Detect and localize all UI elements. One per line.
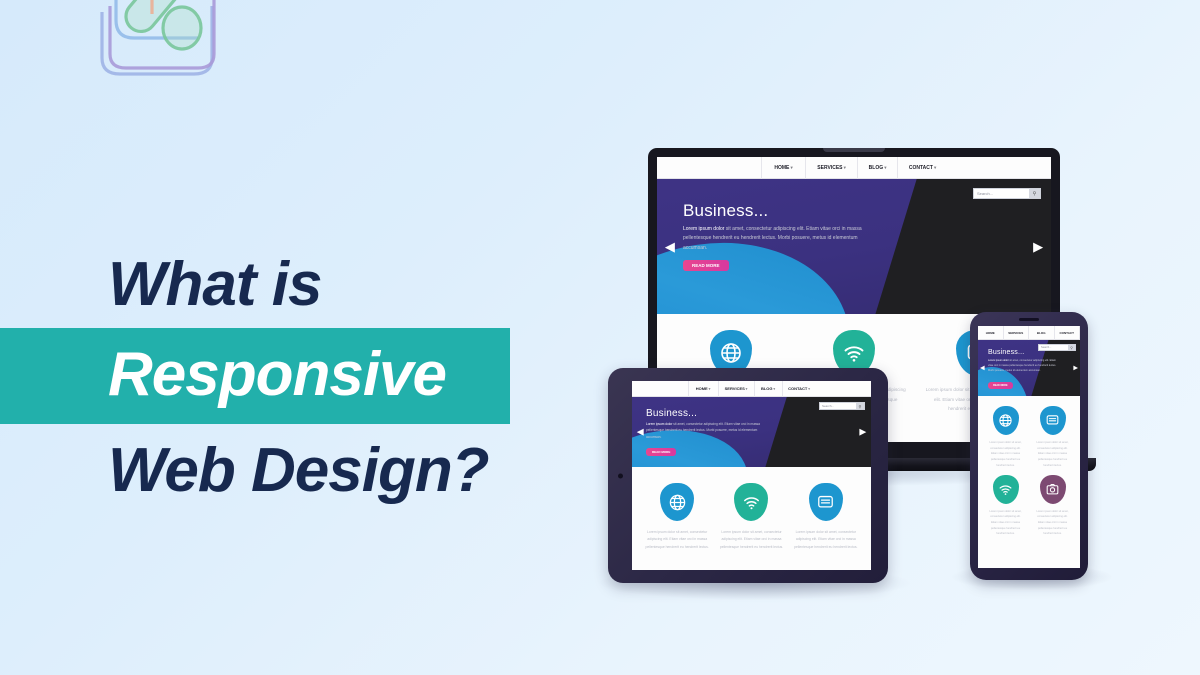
carousel-prev-button[interactable]: ◀ (980, 365, 985, 372)
brand-logo-mark (78, 0, 238, 95)
nav-item-label: HOME (774, 165, 789, 171)
phone-screen: HOME SERVICES BLOG CONTACT (978, 326, 1080, 568)
photo-icon (1040, 475, 1066, 504)
nav-item-contact[interactable]: CONTACT (1054, 326, 1081, 340)
feature-card: Lorem ipsum dolor sit amet, consectetur … (984, 406, 1027, 469)
chevron-down-icon: ▾ (773, 387, 775, 391)
feature-card: Lorem ipsum dolor sit amet, consectetur … (714, 483, 788, 562)
site-hero-tablet: ◀ ▶ Search... ⚲ Business... Lorem ipsum … (632, 397, 871, 467)
title-highlight-band: Responsive (0, 328, 510, 424)
nav-item-contact[interactable]: CONTACT ▾ (897, 157, 947, 179)
feature-card: Lorem ipsum dolor sit amet, consectetur … (984, 475, 1027, 538)
nav-item-label: CONTACT (1060, 331, 1074, 335)
carousel-next-button[interactable]: ▶ (1033, 239, 1043, 255)
carousel-prev-button[interactable]: ◀ (665, 239, 675, 255)
read-more-button[interactable]: READ MORE (988, 382, 1013, 389)
nav-item-label: CONTACT (788, 386, 807, 391)
nav-item-label: BLOG (761, 386, 773, 391)
feature-card: Lorem ipsum dolor sit amet, consectetur … (1031, 475, 1074, 538)
website-mockup-tablet: HOME ▾ SERVICES ▾ BLOG ▾ CONTACT (632, 381, 871, 570)
hero-body-lead: Lorem ipsum dolor (683, 226, 724, 232)
page-title: What is Responsive Web Design? (0, 248, 560, 502)
feature-card: Lorem ipsum dolor sit amet, consectetur … (640, 483, 714, 562)
site-search-box[interactable]: Search... ⚲ (819, 402, 865, 410)
chevron-down-icon: ▾ (808, 387, 810, 391)
chevron-down-icon: ▾ (884, 165, 886, 171)
feature-card: Lorem ipsum dolor sit amet, consectetur … (789, 483, 863, 562)
tablet-camera-icon (618, 473, 623, 478)
carousel-prev-button[interactable]: ◀ (637, 427, 644, 438)
nav-item-blog[interactable]: BLOG ▾ (857, 157, 897, 179)
search-input[interactable]: Search... (820, 403, 856, 409)
site-features-tablet: Lorem ipsum dolor sit amet, consectetur … (632, 467, 871, 570)
hero-content: Business... Lorem ipsum dolor sit amet, … (657, 179, 1051, 314)
read-more-button[interactable]: READ MORE (646, 448, 676, 456)
nav-item-blog[interactable]: BLOG (1028, 326, 1054, 340)
website-mockup-phone: HOME SERVICES BLOG CONTACT (978, 326, 1080, 568)
nav-item-label: BLOG (1037, 331, 1046, 335)
nav-item-home[interactable]: HOME (978, 326, 1003, 340)
site-nav-tablet: HOME ▾ SERVICES ▾ BLOG ▾ CONTACT (632, 381, 871, 397)
nav-item-services[interactable]: SERVICES ▾ (718, 381, 754, 397)
wifi-icon (734, 483, 768, 521)
chevron-down-icon: ▾ (709, 387, 711, 391)
phone-bezel: HOME SERVICES BLOG CONTACT (970, 312, 1088, 580)
feature-text: Lorem ipsum dolor sit amet, consectetur … (720, 529, 784, 551)
chevron-down-icon: ▾ (934, 165, 936, 171)
site-features-phone: Lorem ipsum dolor sit amet, consectetur … (978, 396, 1080, 568)
site-hero-desktop: ◀ ▶ Search... ⚲ Business... Lorem ipsum … (657, 179, 1051, 314)
title-line-3: Web Design? (0, 424, 560, 502)
carousel-next-button[interactable]: ▶ (1073, 365, 1078, 372)
device-mockup-group: HOME ▾ SERVICES ▾ BLOG ▾ CONTACT (560, 130, 1180, 630)
hero-body-lead: Lorem ipsum dolor (646, 422, 672, 426)
globe-icon (660, 483, 694, 521)
tablet-screen: HOME ▾ SERVICES ▾ BLOG ▾ CONTACT (632, 381, 871, 570)
site-nav-desktop: HOME ▾ SERVICES ▾ BLOG ▾ CONTACT (657, 157, 1051, 179)
search-icon[interactable]: ⚲ (856, 403, 864, 409)
nav-item-blog[interactable]: BLOG ▾ (754, 381, 782, 397)
nav-item-home[interactable]: HOME ▾ (688, 381, 718, 397)
site-nav-phone: HOME SERVICES BLOG CONTACT (978, 326, 1080, 340)
search-icon[interactable]: ⚲ (1068, 345, 1075, 350)
hero-title: Business... (683, 201, 1051, 221)
chat-icon (1040, 406, 1066, 435)
site-hero-phone: ◀ ▶ Search... ⚲ Business... Lorem ipsum … (978, 340, 1080, 396)
nav-item-label: SERVICES (817, 165, 842, 171)
nav-item-services[interactable]: SERVICES (1003, 326, 1029, 340)
feature-text: Lorem ipsum dolor sit amet, consectetur … (1034, 509, 1071, 538)
nav-item-label: CONTACT (909, 165, 933, 171)
laptop-notch (823, 148, 885, 152)
chevron-down-icon: ▾ (790, 165, 792, 171)
search-icon[interactable]: ⚲ (1029, 189, 1040, 198)
hero-body-lead: Lorem ipsum dolor (988, 359, 1009, 362)
nav-item-label: BLOG (869, 165, 883, 171)
hero-body: Lorem ipsum dolor sit amet, consectetur … (646, 421, 766, 440)
title-line-2: Responsive (108, 340, 446, 409)
nav-item-label: SERVICES (725, 386, 745, 391)
nav-item-services[interactable]: SERVICES ▾ (805, 157, 857, 179)
feature-text: Lorem ipsum dolor sit amet, consectetur … (987, 509, 1024, 538)
feature-text: Lorem ipsum dolor sit amet, consectetur … (645, 529, 709, 551)
phone-device: HOME SERVICES BLOG CONTACT (970, 312, 1088, 580)
nav-item-label: HOME (696, 386, 708, 391)
chevron-down-icon: ▾ (844, 165, 846, 171)
chat-icon (809, 483, 843, 521)
nav-item-label: HOME (986, 331, 995, 335)
site-search-box[interactable]: Search... ⚲ (973, 188, 1041, 199)
search-input[interactable]: Search... (1039, 345, 1068, 350)
title-line-1: What is (0, 248, 560, 328)
feature-text: Lorem ipsum dolor sit amet, consectetur … (1034, 440, 1071, 469)
feature-text: Lorem ipsum dolor sit amet, consectetur … (987, 440, 1024, 469)
search-input[interactable]: Search... (974, 189, 1029, 198)
carousel-next-button[interactable]: ▶ (859, 427, 866, 438)
read-more-button[interactable]: READ MORE (683, 260, 729, 271)
feature-text: Lorem ipsum dolor sit amet, consectetur … (794, 529, 858, 551)
tablet-device: HOME ▾ SERVICES ▾ BLOG ▾ CONTACT (608, 368, 888, 583)
hero-body: Lorem ipsum dolor sit amet, consectetur … (988, 358, 1060, 373)
globe-icon (993, 406, 1019, 435)
nav-item-contact[interactable]: CONTACT ▾ (782, 381, 816, 397)
hero-body: Lorem ipsum dolor sit amet, consectetur … (683, 225, 883, 253)
tablet-bezel: HOME ▾ SERVICES ▾ BLOG ▾ CONTACT (608, 368, 888, 583)
chevron-down-icon: ▾ (746, 387, 748, 391)
nav-item-label: SERVICES (1008, 331, 1023, 335)
nav-item-home[interactable]: HOME ▾ (761, 157, 805, 179)
feature-card: Lorem ipsum dolor sit amet, consectetur … (1031, 406, 1074, 469)
wifi-icon (993, 475, 1019, 504)
phone-speaker (1019, 318, 1039, 321)
site-search-box[interactable]: Search... ⚲ (1038, 344, 1076, 351)
